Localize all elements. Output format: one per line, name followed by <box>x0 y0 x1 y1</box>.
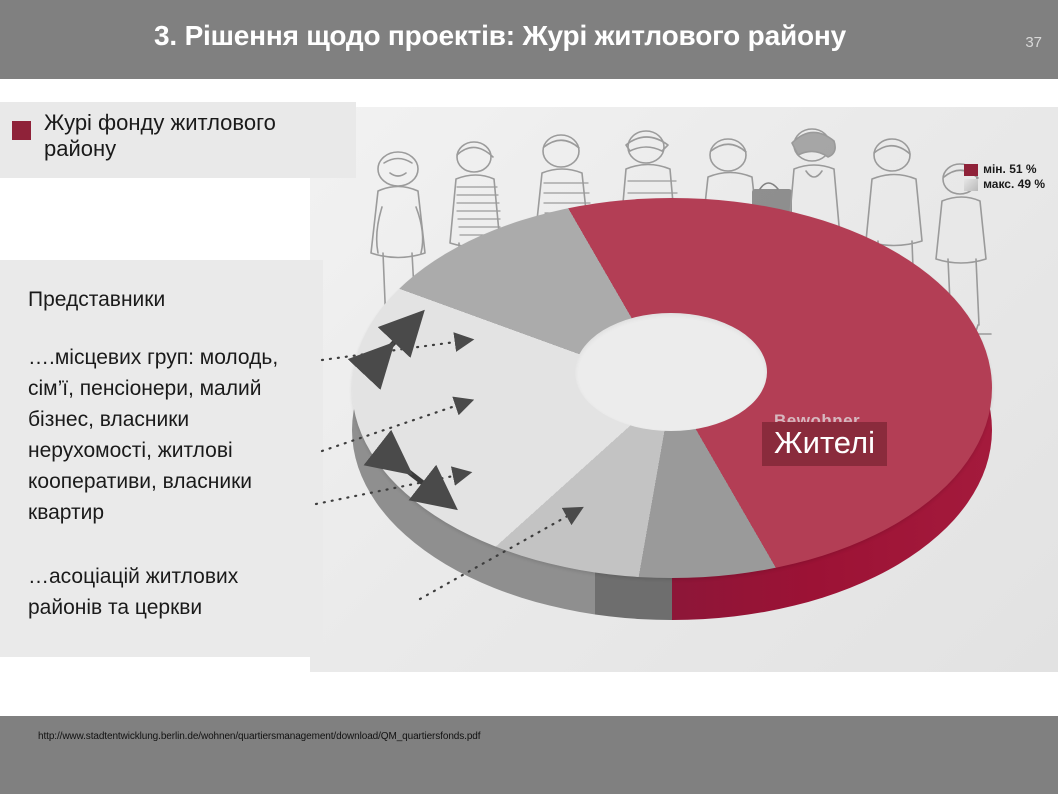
legend-label-max: макс. 49 % <box>983 178 1045 191</box>
page-title: 3. Рішення щодо проектів: Журі житлового… <box>60 20 940 52</box>
representatives-panel: Представники ….місцевих груп: молодь, сі… <box>0 260 323 657</box>
representatives-heading: Представники <box>28 284 304 315</box>
bullet-callout: Журі фонду житлового району <box>0 102 356 178</box>
legend-item-min: мін. 51 % <box>964 162 1045 177</box>
header-bar: 3. Рішення щодо проектів: Журі житлового… <box>0 0 1058 79</box>
representatives-local-groups: ….місцевих груп: молодь, сім’ї, пенсіоне… <box>28 342 304 528</box>
footer-source-url[interactable]: http://www.stadtentwicklung.berlin.de/wo… <box>38 731 480 742</box>
pie-chart-center-hole <box>575 313 767 431</box>
footer-bar <box>0 716 1058 794</box>
pie-chart: Bewohner Жителі <box>322 165 1002 635</box>
pie-slice-label-residents: Жителі <box>762 422 887 466</box>
pie-slice-label-text: Жителі <box>774 425 875 460</box>
slide: 3. Рішення щодо проектів: Журі житлового… <box>0 0 1058 794</box>
legend-label-min: мін. 51 % <box>983 163 1036 176</box>
chart-illustration-panel: Bewohner Жителі мін. 51 % макс. 49 % <box>310 107 1058 672</box>
page-number: 37 <box>1025 34 1042 51</box>
legend-swatch-max-icon <box>964 179 978 191</box>
square-bullet-icon <box>12 121 31 140</box>
chart-legend: мін. 51 % макс. 49 % <box>959 159 1050 195</box>
representatives-associations: …асоціацій житлових районів та церкви <box>28 561 304 623</box>
legend-item-max: макс. 49 % <box>964 177 1045 192</box>
slide-body: Bewohner Жителі мін. 51 % макс. 49 % <box>0 79 1058 705</box>
legend-swatch-min-icon <box>964 164 978 176</box>
bullet-callout-text: Журі фонду житлового району <box>44 110 344 162</box>
